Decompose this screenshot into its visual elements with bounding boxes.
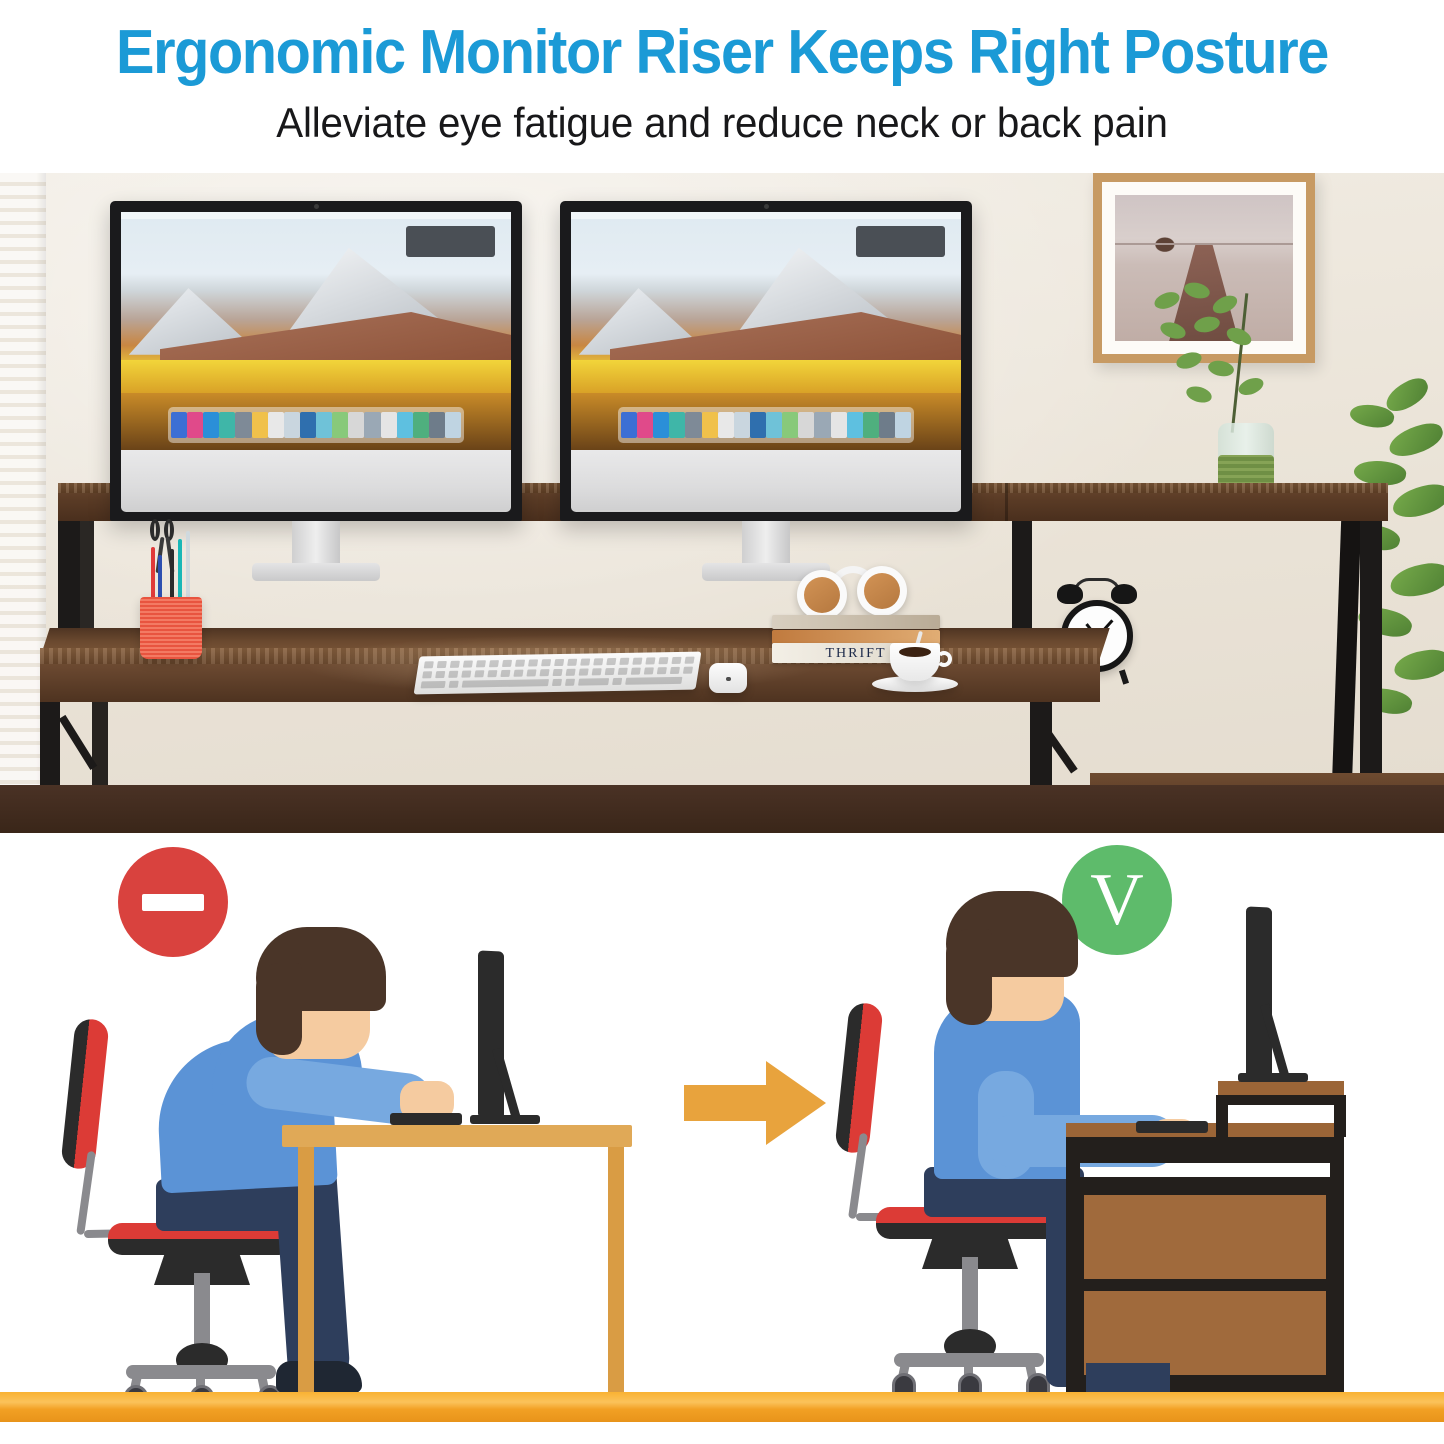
monitor-bezel <box>110 201 522 521</box>
floor-strip <box>0 1392 1444 1422</box>
monitor-right <box>560 201 972 581</box>
person-foot-behind-cabinet <box>1086 1363 1170 1393</box>
bad-posture-panel <box>60 833 700 1423</box>
header-band: Ergonomic Monitor Riser Keeps Right Post… <box>0 0 1444 173</box>
page-subtitle: Alleviate eye fatigue and reduce neck or… <box>29 100 1415 146</box>
webcam-icon <box>764 204 769 209</box>
check-badge-icon: V <box>1062 845 1172 955</box>
clock-bell-right <box>1111 584 1137 604</box>
chair-backrest <box>834 1002 883 1155</box>
monitor-screen <box>121 212 511 450</box>
pens-in-holder <box>145 525 201 601</box>
headphone-earcup-right <box>857 566 907 616</box>
keyboard[interactable] <box>414 652 702 695</box>
cup-handle <box>936 651 952 667</box>
desk-keyboard <box>390 1113 462 1125</box>
monitor-base <box>1238 1073 1308 1082</box>
desktop-widget <box>856 226 946 257</box>
desk-leg-left <box>298 1147 314 1393</box>
monitor-chin <box>571 450 961 512</box>
coffee-cup <box>890 643 940 681</box>
minus-bar-icon <box>142 894 204 911</box>
macos-dock[interactable] <box>618 407 914 443</box>
desk-apron <box>1066 1151 1344 1163</box>
clock-bell-left <box>1057 584 1083 604</box>
pen-holder <box>140 597 202 659</box>
infographic-page: Ergonomic Monitor Riser Keeps Right Post… <box>0 0 1444 1444</box>
macos-dock[interactable] <box>168 407 464 443</box>
headphones <box>795 558 915 620</box>
desk-top-board <box>1066 1135 1344 1151</box>
monitor-stand-foot <box>252 563 380 581</box>
cabinet-drawer-upper[interactable] <box>1078 1189 1332 1285</box>
check-mark-icon: V <box>1090 863 1143 937</box>
monitor-bezel <box>560 201 972 521</box>
riser-leg-right <box>1334 1095 1346 1137</box>
desktop-wallpaper <box>121 212 511 450</box>
monitor-stand-neck <box>742 521 790 563</box>
monitor-panel <box>1246 906 1272 1079</box>
monitor-chin <box>121 450 511 512</box>
desk-leg-right <box>608 1147 624 1393</box>
transition-arrow-icon <box>680 1051 830 1155</box>
menu-bar <box>121 212 511 219</box>
monitor-base <box>470 1115 540 1124</box>
menu-bar <box>571 212 961 219</box>
desk-keyboard <box>1136 1121 1208 1133</box>
good-posture-panel: V <box>810 833 1444 1423</box>
webcam-icon <box>314 204 319 209</box>
person-hair-back <box>256 963 302 1055</box>
monitor-panel <box>478 950 504 1119</box>
chair-backrest <box>60 1018 109 1171</box>
wallpaper-yellow-trees <box>121 360 511 393</box>
chair-gas-cylinder <box>962 1257 978 1337</box>
monitor-stand-neck <box>292 521 340 563</box>
riser-leg-left <box>1216 1095 1228 1137</box>
riser-shelf-seam <box>1005 483 1008 521</box>
page-title: Ergonomic Monitor Riser Keeps Right Post… <box>51 22 1394 84</box>
prohibition-badge-icon <box>118 847 228 957</box>
cabinet-divider-top <box>1066 1177 1344 1189</box>
monitor-riser-shelf-edge <box>1216 1095 1346 1105</box>
wood-floor <box>0 785 1444 833</box>
mouse[interactable] <box>709 663 747 693</box>
product-photo: THRIFT EPSON EPSON <box>0 173 1444 833</box>
plant-leaves <box>1150 283 1290 423</box>
wallpaper-yellow-trees <box>571 360 961 393</box>
desktop-wallpaper <box>571 212 961 450</box>
headphone-earcup-left <box>797 570 847 620</box>
desktop-widget <box>406 226 496 257</box>
chair-gas-cylinder <box>194 1273 210 1351</box>
posture-comparison: V <box>0 833 1444 1444</box>
person-hair-back <box>946 929 992 1025</box>
person-shoe <box>276 1361 362 1393</box>
desk-top-surface <box>282 1125 632 1147</box>
monitor-screen <box>571 212 961 450</box>
